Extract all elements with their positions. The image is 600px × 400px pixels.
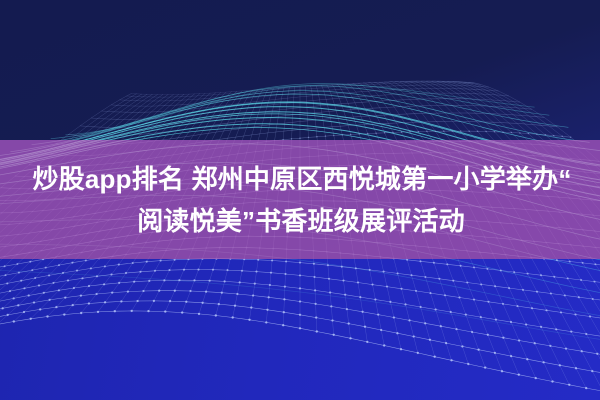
headline-line-1: 炒股app排名 郑州中原区西悦城第一小学举办“	[28, 159, 571, 199]
lower-mesh-echo	[0, 259, 600, 400]
lower-mesh-svg	[0, 259, 600, 400]
headline-line-2: 阅读悦美”书香班级展评活动	[135, 201, 465, 241]
headline-block: 炒股app排名 郑州中原区西悦城第一小学举办“ 阅读悦美”书香班级展评活动	[0, 140, 600, 259]
banner-image: 炒股app排名 郑州中原区西悦城第一小学举办“ 阅读悦美”书香班级展评活动	[0, 0, 600, 400]
